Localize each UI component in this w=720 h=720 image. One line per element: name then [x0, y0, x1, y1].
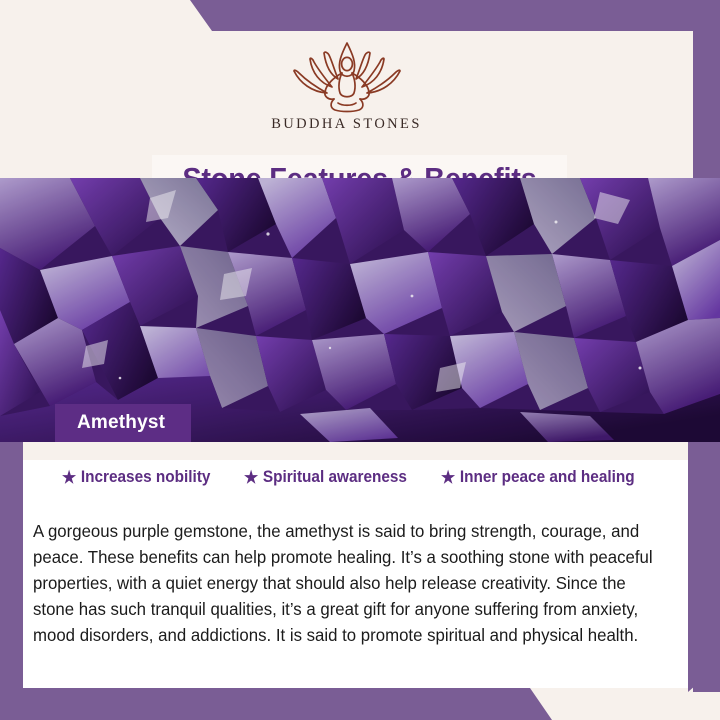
lotus-meditation-icon: [272, 37, 422, 115]
benefit-item: ★ Inner peace and healing: [441, 468, 635, 487]
brand-logo: BUDDHA STONES: [0, 37, 693, 133]
infographic-page: BUDDHA STONES Stone Features & Benefits: [0, 0, 720, 720]
benefits-list: ★ Increases nobility ★ Spiritual awarene…: [23, 468, 688, 487]
header: BUDDHA STONES Stone Features & Benefits: [0, 31, 693, 178]
star-icon: ★: [244, 469, 258, 486]
amethyst-crystal-cluster-photo: [0, 178, 720, 442]
right-purple-band-notch: [688, 440, 720, 692]
stone-name-banner: Amethyst: [55, 404, 191, 442]
card-top-tint: [23, 442, 688, 460]
stone-description: A gorgeous purple gemstone, the amethyst…: [33, 518, 659, 648]
top-purple-bar: [0, 0, 720, 31]
brand-name: BUDDHA STONES: [271, 116, 422, 133]
benefit-label: Inner peace and healing: [460, 468, 635, 487]
benefit-label: Spiritual awareness: [262, 468, 406, 487]
benefit-item: ★ Spiritual awareness: [244, 468, 407, 487]
content-card: ★ Increases nobility ★ Spiritual awarene…: [23, 442, 688, 688]
star-icon: ★: [441, 469, 455, 486]
star-icon: ★: [62, 469, 76, 486]
stone-name: Amethyst: [77, 412, 165, 434]
benefit-label: Increases nobility: [81, 468, 211, 487]
benefit-item: ★ Increases nobility: [62, 468, 210, 487]
hero-image: [0, 178, 720, 442]
bottom-purple-bar: [0, 688, 720, 720]
left-purple-band: [0, 440, 23, 692]
